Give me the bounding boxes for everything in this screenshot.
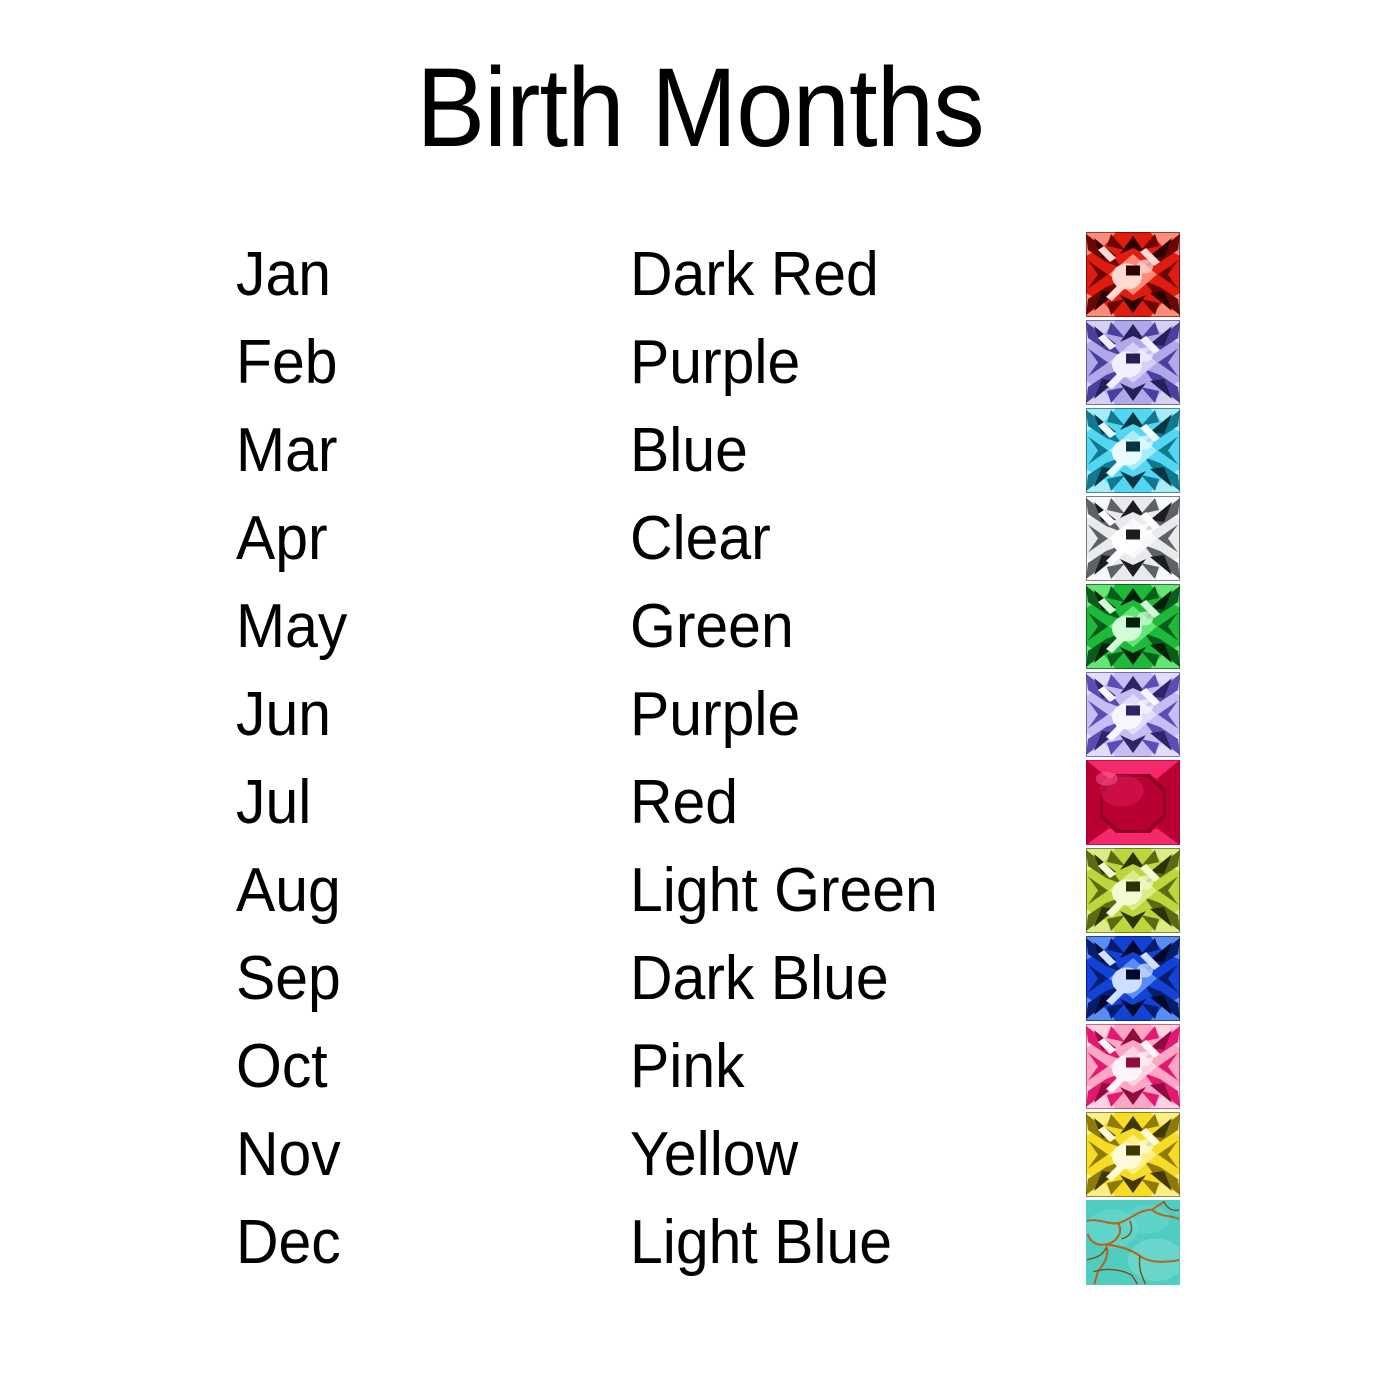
color-name-label: Dark Blue: [630, 935, 889, 1023]
aquamarine-gem-icon: [1086, 408, 1180, 493]
ruby-gem-icon: [1086, 760, 1180, 845]
table-row: OctPink: [0, 1023, 1400, 1111]
month-label: Mar: [236, 407, 337, 495]
color-name-label: Purple: [630, 319, 800, 407]
table-row: JulRed: [0, 759, 1400, 847]
month-label: Jan: [236, 231, 331, 319]
color-name-label: Light Blue: [630, 1199, 892, 1287]
table-row: AugLight Green: [0, 847, 1400, 935]
citrine-gem-icon: [1086, 1112, 1180, 1197]
color-name-label: Dark Red: [630, 231, 879, 319]
month-label: Nov: [236, 1111, 341, 1199]
table-row: NovYellow: [0, 1111, 1400, 1199]
amethyst-gem-icon: [1086, 320, 1180, 405]
page-title: Birth Months: [56, 52, 1344, 164]
month-label: May: [236, 583, 347, 671]
table-row: DecLight Blue: [0, 1199, 1400, 1287]
birth-months-table: JanDark RedFebPurpleMarBlueAprClearMayGr…: [0, 231, 1400, 1287]
birth-months-page: Birth Months JanDark RedFebPurpleMarBlue…: [0, 0, 1400, 1400]
sapphire-gem-icon: [1086, 936, 1180, 1021]
color-name-label: Blue: [630, 407, 748, 495]
table-row: SepDark Blue: [0, 935, 1400, 1023]
garnet-gem-icon: [1086, 232, 1180, 317]
table-row: JanDark Red: [0, 231, 1400, 319]
color-name-label: Light Green: [630, 847, 938, 935]
color-name-label: Yellow: [630, 1111, 798, 1199]
table-row: JunPurple: [0, 671, 1400, 759]
diamond-gem-icon: [1086, 496, 1180, 581]
color-name-label: Clear: [630, 495, 771, 583]
color-name-label: Pink: [630, 1023, 745, 1111]
month-label: Jul: [236, 759, 311, 847]
month-label: Jun: [236, 671, 331, 759]
emerald-gem-icon: [1086, 584, 1180, 669]
table-row: FebPurple: [0, 319, 1400, 407]
month-label: Sep: [236, 935, 341, 1023]
month-label: Dec: [236, 1199, 341, 1287]
table-row: MarBlue: [0, 407, 1400, 495]
turquoise-gem-icon: [1086, 1200, 1180, 1285]
month-label: Apr: [236, 495, 328, 583]
table-row: MayGreen: [0, 583, 1400, 671]
alexandrite-gem-icon: [1086, 672, 1180, 757]
color-name-label: Green: [630, 583, 794, 671]
color-name-label: Red: [630, 759, 738, 847]
month-label: Feb: [236, 319, 338, 407]
color-name-label: Purple: [630, 671, 800, 759]
month-label: Aug: [236, 847, 341, 935]
peridot-gem-icon: [1086, 848, 1180, 933]
tourmaline-gem-icon: [1086, 1024, 1180, 1109]
month-label: Oct: [236, 1023, 328, 1111]
table-row: AprClear: [0, 495, 1400, 583]
